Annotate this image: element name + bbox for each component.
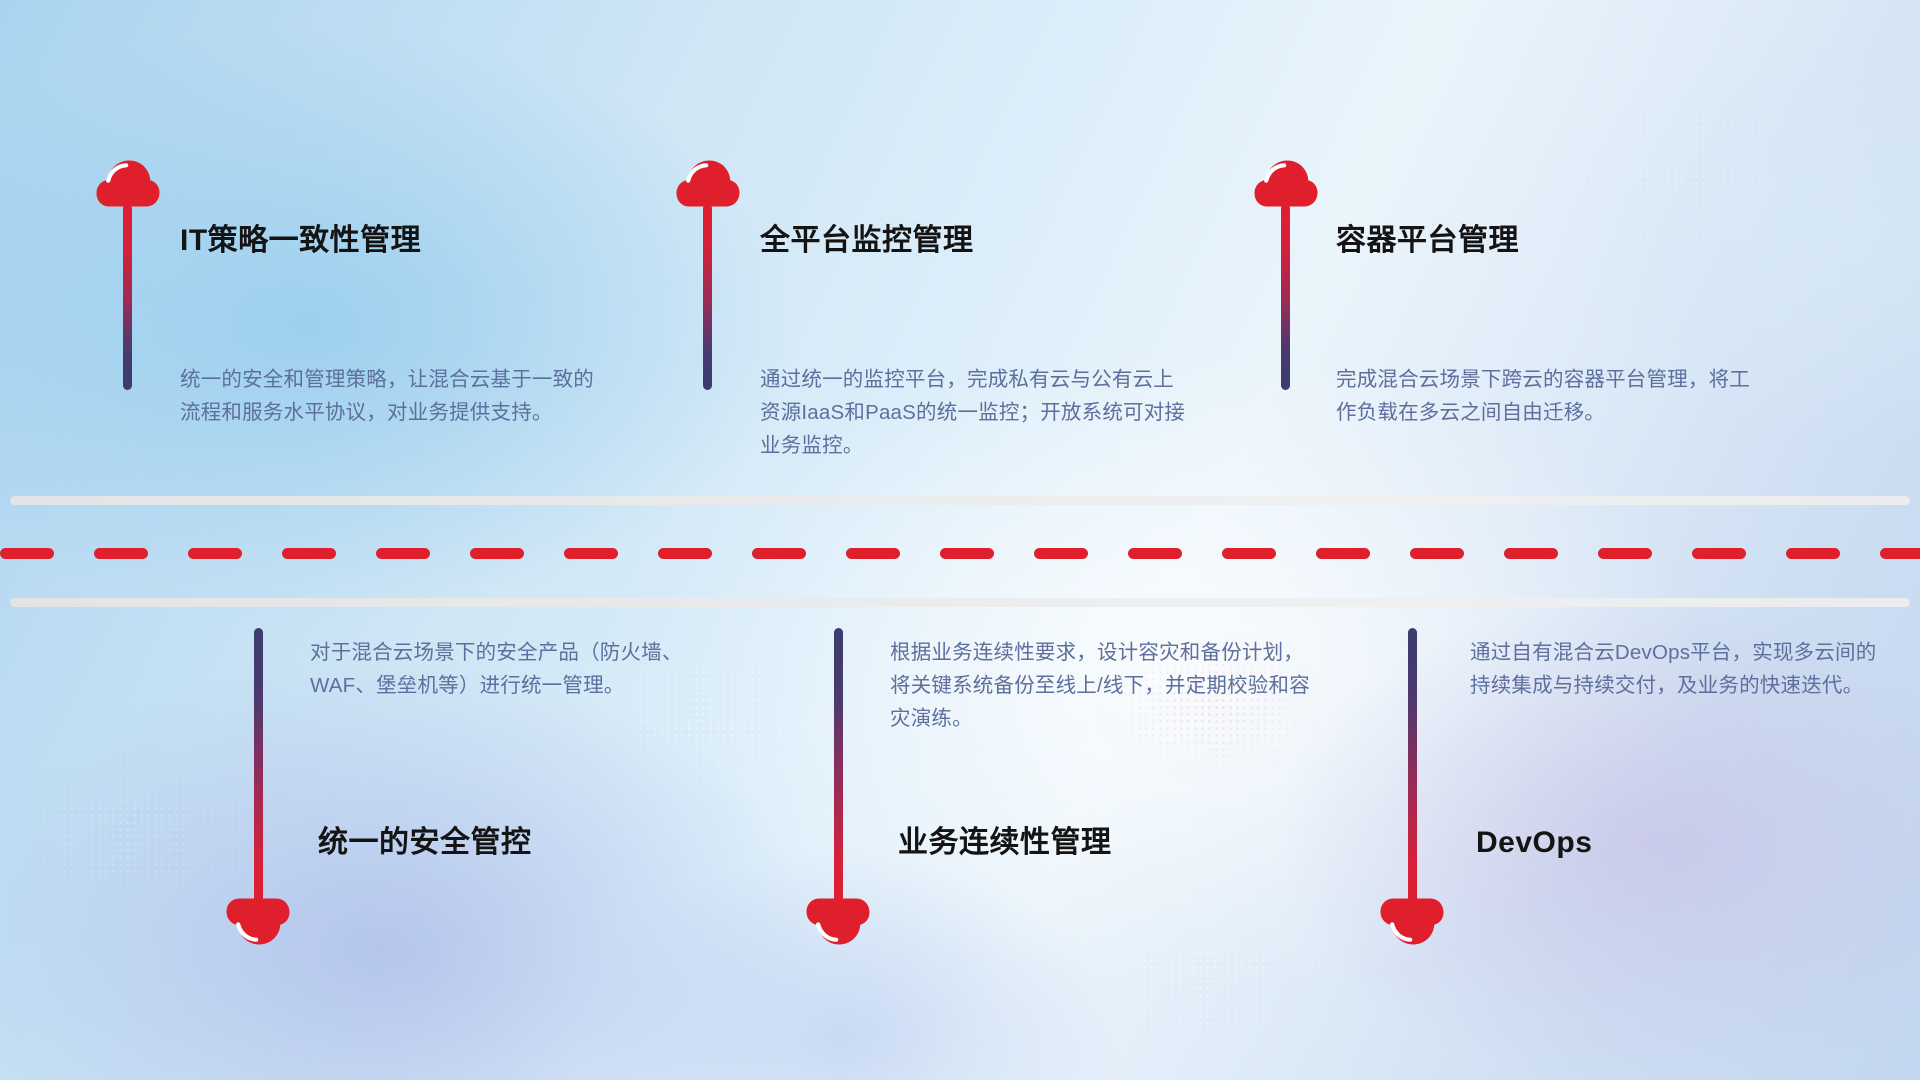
dash-segment <box>1410 548 1464 559</box>
dash-segment <box>1786 548 1840 559</box>
dash-segment <box>1880 548 1920 559</box>
connector-line <box>123 204 132 390</box>
timeline-rail-lower <box>10 598 1910 607</box>
dash-segment <box>94 548 148 559</box>
dash-segment <box>282 548 336 559</box>
card-title: 业务连续性管理 <box>898 825 1112 861</box>
dash-segment <box>1692 548 1746 559</box>
dash-segment <box>752 548 806 559</box>
dash-segment <box>658 548 712 559</box>
dash-segment <box>188 548 242 559</box>
card-body: 根据业务连续性要求，设计容灾和备份计划，将关键系统备份至线上/线下，并定期校验和… <box>890 636 1310 736</box>
card-title: 全平台监控管理 <box>760 223 974 259</box>
red-dashed-center-line <box>0 548 1920 559</box>
card-title: 容器平台管理 <box>1336 223 1519 259</box>
cloud-icon <box>226 898 290 945</box>
cloud-icon <box>676 160 740 207</box>
card-body: 通过自有混合云DevOps平台，实现多云间的持续集成与持续交付，及业务的快速迭代… <box>1470 636 1890 702</box>
infographic-canvas: IT策略一致性管理 统一的安全和管理策略，让混合云基于一致的流程和服务水平协议，… <box>0 0 1920 1080</box>
card-title: DevOps <box>1476 825 1592 861</box>
card-body: 对于混合云场景下的安全产品（防火墙、WAF、堡垒机等）进行统一管理。 <box>310 636 730 702</box>
cloud-icon <box>1254 160 1318 207</box>
dash-segment <box>1316 548 1370 559</box>
dash-segment <box>0 548 54 559</box>
dash-segment <box>1222 548 1276 559</box>
texture-dots-b <box>980 880 1400 1080</box>
connector-line <box>254 628 263 914</box>
card-body: 完成混合云场景下跨云的容器平台管理，将工作负载在多云之间自由迁移。 <box>1336 363 1756 429</box>
dash-segment <box>1504 548 1558 559</box>
card-title: IT策略一致性管理 <box>180 223 421 259</box>
dash-segment <box>1598 548 1652 559</box>
connector-line <box>1281 204 1290 390</box>
dash-segment <box>1034 548 1088 559</box>
connector-line <box>1408 628 1417 914</box>
connector-line <box>834 628 843 914</box>
dash-segment <box>940 548 994 559</box>
dash-segment <box>376 548 430 559</box>
connector-line <box>703 204 712 390</box>
card-body: 通过统一的监控平台，完成私有云与公有云上资源IaaS和PaaS的统一监控；开放系… <box>760 363 1192 463</box>
cloud-icon <box>806 898 870 945</box>
dash-segment <box>1128 548 1182 559</box>
card-body: 统一的安全和管理策略，让混合云基于一致的流程和服务水平协议，对业务提供支持。 <box>180 363 610 429</box>
cloud-icon <box>96 160 160 207</box>
texture-dots-e <box>1420 40 1840 340</box>
cloud-icon <box>1380 898 1444 945</box>
dash-segment <box>470 548 524 559</box>
timeline-rail-upper <box>10 496 1910 505</box>
card-title: 统一的安全管控 <box>318 825 532 861</box>
texture-dots-d <box>40 700 340 960</box>
dash-segment <box>564 548 618 559</box>
dash-segment <box>846 548 900 559</box>
